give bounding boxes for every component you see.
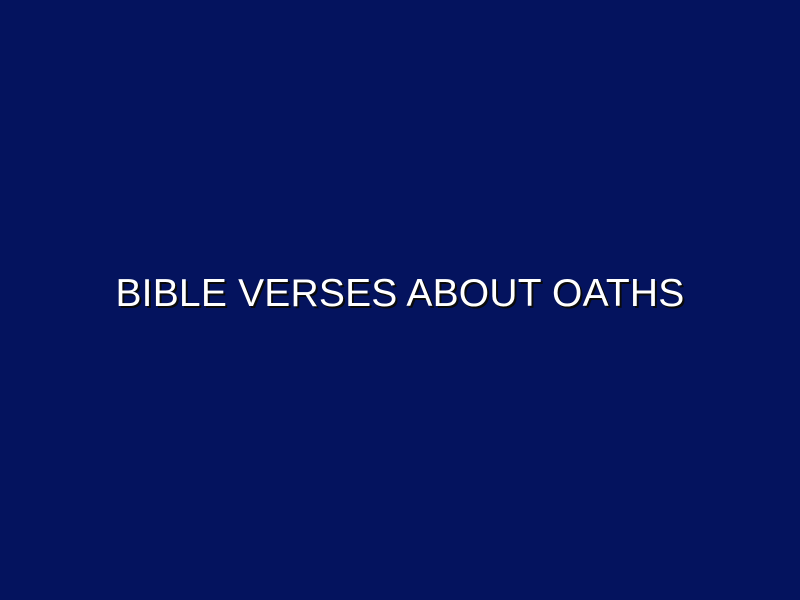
title-card: BIBLE VERSES ABOUT OATHS	[0, 0, 800, 600]
page-title: BIBLE VERSES ABOUT OATHS	[115, 274, 684, 315]
title-block: BIBLE VERSES ABOUT OATHS	[0, 0, 800, 594]
